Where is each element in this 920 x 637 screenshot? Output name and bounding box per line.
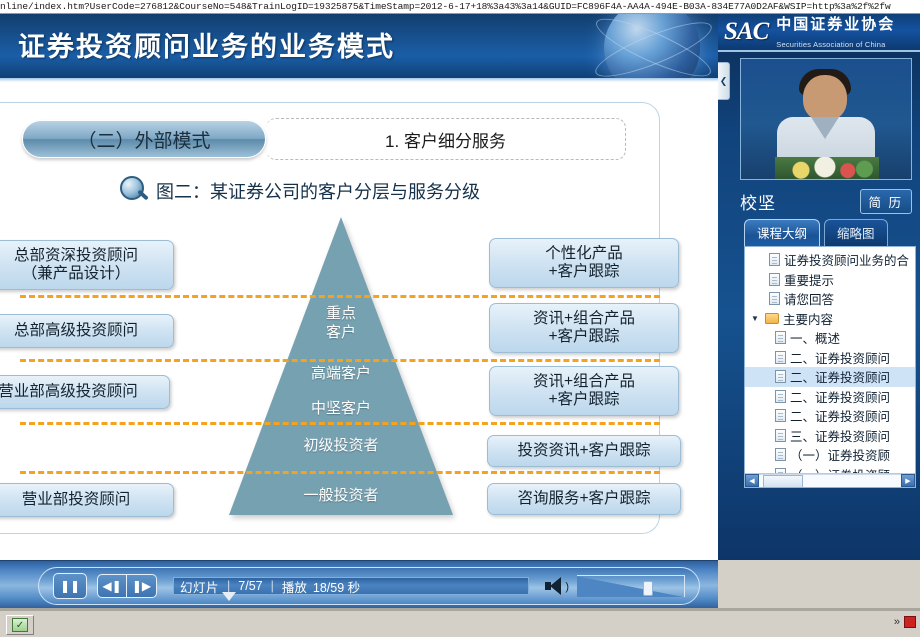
doc-icon [775,331,786,344]
taskbar-item[interactable]: ✓ [6,615,34,635]
left-box-1-line-0: 总部高级投资顾问 [14,322,138,340]
player-sep-2: | [263,579,282,593]
player-state-label: 播放 [282,577,307,596]
tree-item-7[interactable]: 二、证券投资顾问 [745,387,915,407]
left-box-2: 营业部高级投资顾问 [0,375,170,409]
nav-button-group: ◀❚ ❚▶ [97,574,157,598]
app-root: nline/index.htm?UserCode=276812&CourseNo… [0,0,920,637]
speaker-wave: ) [565,581,569,593]
chevron-down-icon[interactable]: ▼ [751,314,761,323]
pyramid-label-0: 重点 [226,302,456,323]
pyramid-label-5: 一般投资者 [226,484,456,505]
pyramid-label-2: 高端客户 [226,362,456,383]
right-box-4: 咨询服务+客户跟踪 [487,483,681,515]
tray-status-icon[interactable] [904,616,916,628]
resume-button[interactable]: 简 历 [860,189,912,214]
tree-item-2[interactable]: 请您回答 [745,289,915,309]
doc-icon [775,429,786,442]
slide-counter: 7/57 [238,579,262,593]
right-box-2-line-1: +客户跟踪 [548,391,619,408]
scroll-right-button[interactable]: ▶ [901,474,915,487]
speaker-icon[interactable]: ) [545,577,567,595]
tree-item-1[interactable]: 重要提示 [745,270,915,290]
previous-button[interactable]: ◀❚ [97,574,127,598]
tree-item-10[interactable]: （一）证券投资顾 [745,445,915,465]
doc-icon [775,390,786,403]
right-box-0: 个性化产品 +客户跟踪 [489,238,679,288]
doc-icon [769,292,780,305]
tree-item-8[interactable]: 二、证券投资顾问 [745,406,915,426]
tree-item-3-label: 主要内容 [783,309,833,328]
outline-tree: 证券投资顾问业务的合 重要提示 请您回答 ▼ 主要内容 一、概述 [745,247,915,484]
seek-bar[interactable]: 幻灯片 | 7/57 | 播放 18/59 秒 [173,577,529,595]
overflow-icon[interactable]: » [894,616,900,628]
volume-slider[interactable] [577,575,685,597]
sac-logo-bar: SAC 中国证券业协会 Securities Association of Ch… [718,14,920,52]
right-box-0-line-0: 个性化产品 [545,245,623,262]
slide-stage[interactable]: 证券投资顾问业务的业务模式 （二）外部模式 1. 客户细分服务 图二：某证券公司… [0,14,718,560]
right-box-1-line-0: 资讯+组合产品 [533,310,635,327]
presenter-name: 校坚 [740,189,776,214]
tree-item-0[interactable]: 证券投资顾问业务的合 [745,250,915,270]
collapse-panel-button[interactable]: ❮ [718,62,730,100]
check-icon: ✓ [12,618,28,632]
player-controls: ❚❚ ◀❚ ❚▶ 幻灯片 | 7/57 | 播放 18/59 秒 ) [38,567,700,605]
right-box-1: 资讯+组合产品 +客户跟踪 [489,303,679,353]
left-box-0: 总部资深投资顾问 （兼产品设计） [0,240,174,290]
tree-item-6[interactable]: 二、证券投资顾问 [745,367,915,387]
scroll-left-button[interactable]: ◀ [745,474,759,487]
slide-title: 证券投资顾问业务的业务模式 [18,25,395,64]
magnifier-icon [120,176,150,206]
panel-tabs: 课程大纲 缩略图 [718,222,920,246]
tree-item-4[interactable]: 一、概述 [745,328,915,348]
video-head [803,75,847,121]
tree-item-5-label: 二、证券投资顾问 [790,348,890,367]
section-topic: 1. 客户细分服务 [266,118,626,160]
player-bar: ❚❚ ◀❚ ❚▶ 幻灯片 | 7/57 | 播放 18/59 秒 ) [0,560,718,610]
volume-handle[interactable] [643,581,653,596]
left-box-0-line-0: 总部资深投资顾问 [14,247,138,264]
tab-thumbnails[interactable]: 缩略图 [824,219,888,246]
figure-caption-row: 图二：某证券公司的客户分层与服务分级 [120,176,480,206]
right-box-0-line-1: +客户跟踪 [548,263,619,280]
slide-banner: 证券投资顾问业务的业务模式 [0,14,718,82]
seek-handle[interactable] [222,592,236,601]
left-box-3: 营业部投资顾问 [0,483,174,517]
player-time-label: 18/59 秒 [307,577,360,596]
doc-icon [769,273,780,286]
doc-icon [775,409,786,422]
pause-button[interactable]: ❚❚ [53,573,87,599]
tree-item-7-label: 二、证券投资顾问 [790,387,890,406]
globe-icon [604,14,700,82]
right-box-3: 投资资讯+客户跟踪 [487,435,681,467]
figure-caption: 图二：某证券公司的客户分层与服务分级 [156,178,480,204]
divider-dash-3 [20,422,660,425]
tree-item-5[interactable]: 二、证券投资顾问 [745,348,915,368]
address-bar[interactable]: nline/index.htm?UserCode=276812&CourseNo… [0,0,920,14]
pyramid-label-4: 初级投资者 [226,434,456,455]
tree-horizontal-scrollbar[interactable]: ◀ ▶ [745,473,915,487]
tab-course-outline[interactable]: 课程大纲 [744,219,820,246]
taskbar: ✓ » [0,610,920,637]
tree-item-3[interactable]: ▼ 主要内容 [745,309,915,329]
doc-icon [775,370,786,383]
player-sep-1: | [219,579,238,593]
tree-item-9[interactable]: 三、证券投资顾问 [745,426,915,446]
tree-item-9-label: 三、证券投资顾问 [790,426,890,445]
divider-dash-4 [20,471,660,474]
sac-name-cn: 中国证券业协会 [776,16,895,33]
video-flowers [775,157,879,179]
player-mode-label: 幻灯片 [174,577,219,596]
tree-item-8-label: 二、证券投资顾问 [790,406,890,425]
presenter-video[interactable] [740,58,912,180]
doc-icon [775,351,786,364]
divider-dash-1 [20,295,660,298]
divider-dash-2 [20,359,660,362]
doc-icon [769,253,780,266]
tree-item-6-label: 二、证券投资顾问 [790,367,890,386]
tree-item-2-label: 请您回答 [784,289,834,308]
tree-item-10-label: （一）证券投资顾 [790,445,890,464]
taskbar-tray: » [894,616,916,628]
scroll-track[interactable] [759,474,901,487]
right-box-2-line-0: 资讯+组合产品 [533,373,635,390]
doc-icon [775,448,786,461]
outline-tree-box[interactable]: 证券投资顾问业务的合 重要提示 请您回答 ▼ 主要内容 一、概述 [744,246,916,488]
right-box-2: 资讯+组合产品 +客户跟踪 [489,366,679,416]
pyramid-label-1: 客户 [226,321,456,342]
scroll-thumb[interactable] [763,475,803,488]
presenter-row: 校坚 简 历 [718,180,920,222]
tree-item-0-label: 证券投资顾问业务的合 [784,250,909,269]
left-box-2-line-0: 营业部高级投资顾问 [0,383,138,401]
sac-name-block: 中国证券业协会 Securities Association of China [776,14,895,52]
right-box-3-line-0: 投资资讯+客户跟踪 [517,442,650,460]
tree-item-4-label: 一、概述 [790,328,840,347]
sac-wordmark: SAC [724,18,768,46]
left-box-3-line-0: 营业部投资顾问 [22,491,131,509]
section-pill: （二）外部模式 [22,120,266,158]
pyramid-label-3: 中坚客户 [226,397,456,418]
tree-item-1-label: 重要提示 [784,270,834,289]
next-button[interactable]: ❚▶ [127,574,157,598]
folder-icon [765,313,779,324]
left-box-0-line-1: （兼产品设计） [22,265,131,282]
left-box-1: 总部高级投资顾问 [0,314,174,348]
right-box-4-line-0: 咨询服务+客户跟踪 [517,490,650,508]
right-box-1-line-1: +客户跟踪 [548,328,619,345]
sac-name-en: Securities Association of China [776,40,885,49]
right-panel: SAC 中国证券业协会 Securities Association of Ch… [718,14,920,560]
